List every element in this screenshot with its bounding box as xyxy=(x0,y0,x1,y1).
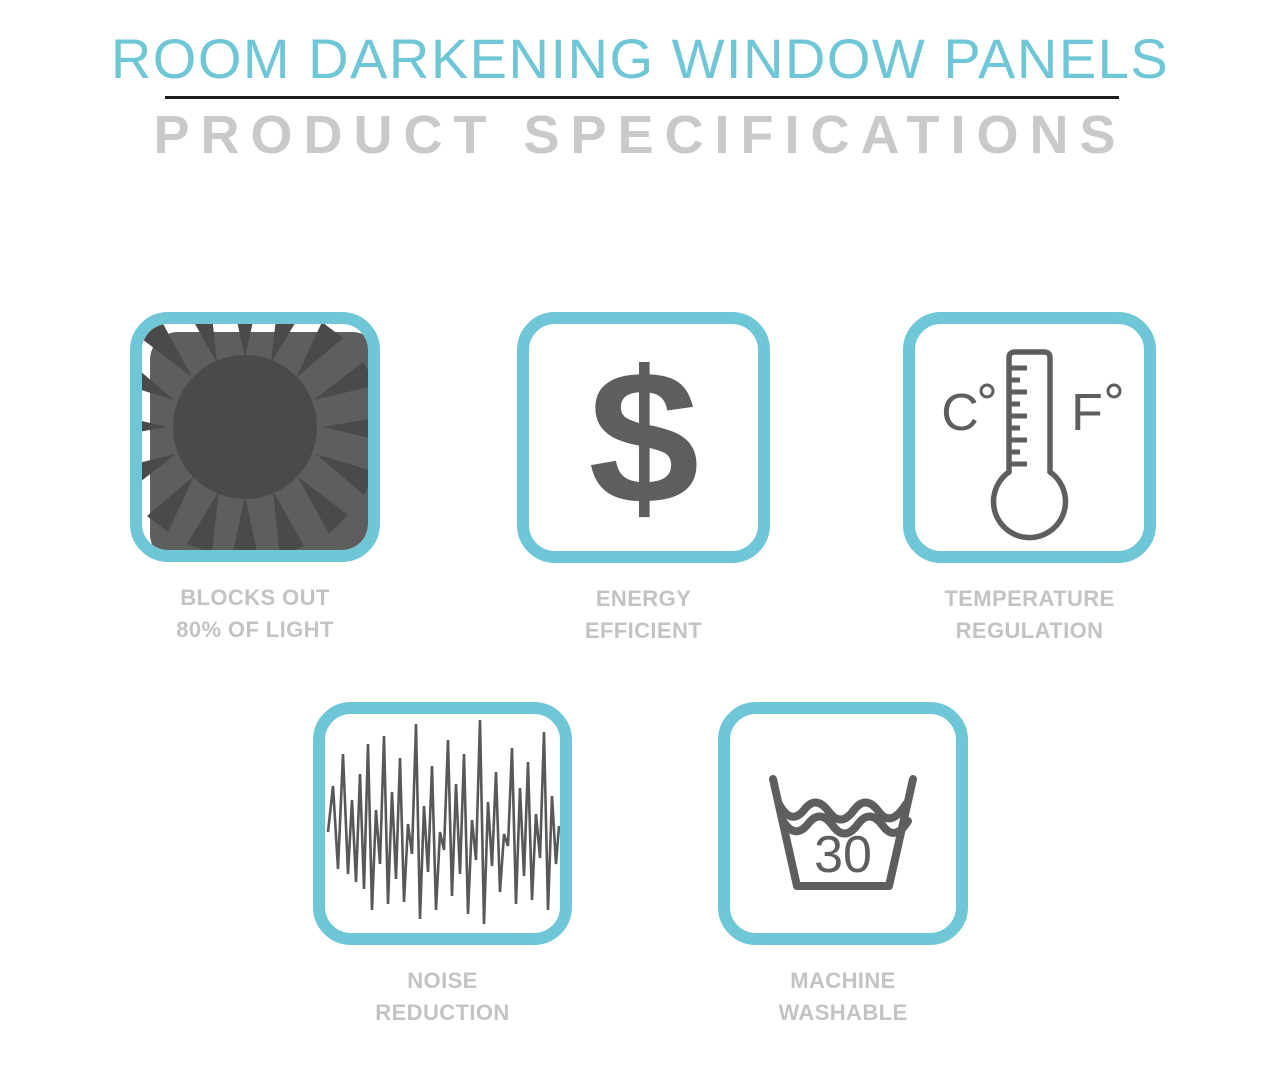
sun-blocked-icon xyxy=(130,312,370,552)
icon-card-blocks-light[interactable] xyxy=(130,312,380,562)
card-inner xyxy=(325,714,560,933)
feature-temperature-regulation[interactable]: C F TEMPERATURE REGULATION xyxy=(903,312,1156,647)
page-title: ROOM DARKENING WINDOW PANELS xyxy=(0,28,1280,90)
feature-noise-reduction[interactable]: NOISE REDUCTION xyxy=(313,702,572,1029)
card-inner xyxy=(142,324,368,550)
feature-caption-machine-washable: MACHINE WASHABLE xyxy=(718,965,968,1029)
feature-machine-washable[interactable]: 30 MACHINE WASHABLE xyxy=(718,702,968,1029)
celsius-degree-symbol xyxy=(981,385,993,397)
fahrenheit-label: F xyxy=(1071,384,1103,442)
feature-caption-noise-reduction: NOISE REDUCTION xyxy=(313,965,572,1029)
wash-temperature-label: 30 xyxy=(814,826,872,884)
title-divider xyxy=(165,96,1119,99)
feature-caption-energy-efficient: ENERGY EFFICIENT xyxy=(517,583,770,647)
dollar-sign-icon: $ xyxy=(588,343,699,533)
icon-card-temperature[interactable]: C F xyxy=(903,312,1156,563)
celsius-label: C xyxy=(941,384,979,442)
thermometer-icon: C F xyxy=(915,324,1144,551)
icon-card-machine-washable[interactable]: 30 xyxy=(718,702,968,945)
icon-card-noise-reduction[interactable] xyxy=(313,702,572,945)
card-inner: 30 xyxy=(730,714,956,933)
feature-energy-efficient[interactable]: $ ENERGY EFFICIENT xyxy=(517,312,770,647)
wash-basin-icon: 30 xyxy=(730,714,956,933)
feature-caption-temperature: TEMPERATURE REGULATION xyxy=(903,583,1156,647)
icon-card-energy-efficient[interactable]: $ xyxy=(517,312,770,563)
card-inner: $ xyxy=(529,324,758,551)
header: ROOM DARKENING WINDOW PANELS PRODUCT SPE… xyxy=(0,0,1280,185)
card-inner: C F xyxy=(915,324,1144,551)
feature-caption-blocks-light: BLOCKS OUT 80% OF LIGHT xyxy=(130,582,380,646)
page-subtitle: PRODUCT SPECIFICATIONS xyxy=(0,104,1280,166)
sound-wave-icon xyxy=(325,714,560,933)
feature-blocks-light[interactable]: BLOCKS OUT 80% OF LIGHT xyxy=(130,312,380,646)
fahrenheit-degree-symbol xyxy=(1108,385,1120,397)
